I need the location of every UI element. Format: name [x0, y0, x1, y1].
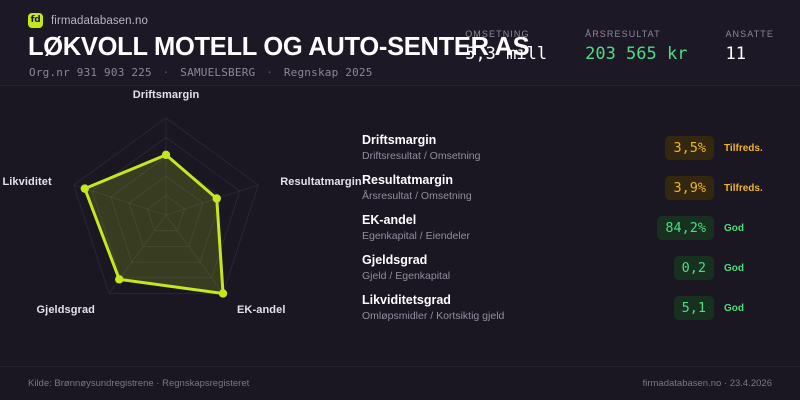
radar-axis-label-likviditet: Likviditet	[2, 176, 51, 188]
kpi-omsetning-value: 5,3 mill	[465, 44, 547, 64]
report-card: fd firmadatabasen.no LØKVOLL MOTELL OG A…	[0, 0, 800, 400]
radar-axis-label-resultatmargin: Resultatmargin	[280, 176, 361, 188]
kpi-ansatte: ANSATTE 11	[725, 29, 774, 64]
radar-chart: Driftsmargin Resultatmargin EK-andel Gje…	[0, 86, 355, 358]
company-meta: Org.nr 931 903 225 · SAMUELSBERG · Regns…	[29, 66, 373, 79]
metric-name: Gjeldsgrad	[362, 253, 638, 268]
table-row[interactable]: Gjeldsgrad Gjeld / Egenkapital 0,2 God	[362, 248, 780, 288]
kpi-arsresultat-value: 203 565 kr	[585, 44, 687, 64]
table-row[interactable]: Resultatmargin Årsresultat / Omsetning 3…	[362, 168, 780, 208]
metric-text: EK-andel Egenkapital / Eiendeler	[362, 213, 638, 243]
metric-right: 3,9% Tilfreds.	[638, 176, 780, 200]
radar-axis-label-gjeldsgrad: Gjeldsgrad	[37, 304, 95, 316]
status-badge: Tilfreds.	[724, 143, 780, 154]
metric-value-badge: 0,2	[674, 256, 714, 280]
metric-value-badge: 3,9%	[665, 176, 714, 200]
brand-logo[interactable]: fd firmadatabasen.no	[28, 13, 148, 28]
company-orgnr: Org.nr 931 903 225	[29, 66, 152, 79]
metric-value-badge: 3,5%	[665, 136, 714, 160]
header: fd firmadatabasen.no LØKVOLL MOTELL OG A…	[0, 0, 800, 86]
status-badge: Tilfreds.	[724, 183, 780, 194]
kpi-summary: OMSETNING 5,3 mill ÅRSRESULTAT 203 565 k…	[465, 29, 774, 64]
kpi-arsresultat-label: ÅRSRESULTAT	[585, 29, 687, 39]
company-fiscal-year: Regnskap 2025	[284, 66, 373, 79]
radar-axis-label-driftsmargin: Driftsmargin	[133, 89, 200, 101]
footer-stamp: firmadatabasen.no · 23.4.2026	[643, 378, 772, 389]
metric-text: Driftsmargin Driftsresultat / Omsetning	[362, 133, 638, 163]
metric-right: 3,5% Tilfreds.	[638, 136, 780, 160]
meta-separator-2: ·	[262, 66, 277, 79]
metric-value-badge: 84,2%	[657, 216, 714, 240]
metric-right: 84,2% God	[638, 216, 780, 240]
metric-formula: Driftsresultat / Omsetning	[362, 149, 638, 163]
radar-axis-label-ek-andel: EK-andel	[237, 304, 285, 316]
metric-right: 0,2 God	[638, 256, 780, 280]
metric-name: Resultatmargin	[362, 173, 638, 188]
table-row[interactable]: EK-andel Egenkapital / Eiendeler 84,2% G…	[362, 208, 780, 248]
meta-separator-1: ·	[159, 66, 174, 79]
status-badge: God	[724, 223, 780, 234]
metric-formula: Egenkapital / Eiendeler	[362, 229, 638, 243]
metric-name: Likviditetsgrad	[362, 293, 638, 308]
footer: Kilde: Brønnøysundregistrene · Regnskaps…	[0, 366, 800, 400]
metric-text: Resultatmargin Årsresultat / Omsetning	[362, 173, 638, 203]
kpi-omsetning: OMSETNING 5,3 mill	[465, 29, 547, 64]
metric-text: Gjeldsgrad Gjeld / Egenkapital	[362, 253, 638, 283]
radar-chart-svg	[0, 86, 355, 358]
kpi-ansatte-label: ANSATTE	[725, 29, 774, 39]
brand-name: firmadatabasen.no	[51, 15, 148, 27]
page-title: LØKVOLL MOTELL OG AUTO-SENTER AS	[28, 33, 529, 62]
metric-right: 5,1 God	[638, 296, 780, 320]
metric-formula: Gjeld / Egenkapital	[362, 269, 638, 283]
firmadatabasen-logo-icon: fd	[28, 13, 43, 28]
kpi-ansatte-value: 11	[725, 44, 774, 64]
status-badge: God	[724, 303, 780, 314]
metric-value-badge: 5,1	[674, 296, 714, 320]
metrics-list: Driftsmargin Driftsresultat / Omsetning …	[362, 128, 780, 328]
footer-source: Kilde: Brønnøysundregistrene · Regnskaps…	[28, 378, 249, 389]
kpi-omsetning-label: OMSETNING	[465, 29, 547, 39]
table-row[interactable]: Likviditetsgrad Omløpsmidler / Kortsikti…	[362, 288, 780, 328]
metric-name: Driftsmargin	[362, 133, 638, 148]
company-place: SAMUELSBERG	[180, 66, 255, 79]
metric-name: EK-andel	[362, 213, 638, 228]
status-badge: God	[724, 263, 780, 274]
metric-text: Likviditetsgrad Omløpsmidler / Kortsikti…	[362, 293, 638, 323]
metric-formula: Omløpsmidler / Kortsiktig gjeld	[362, 309, 638, 323]
table-row[interactable]: Driftsmargin Driftsresultat / Omsetning …	[362, 128, 780, 168]
kpi-arsresultat: ÅRSRESULTAT 203 565 kr	[585, 29, 687, 64]
metric-formula: Årsresultat / Omsetning	[362, 189, 638, 203]
